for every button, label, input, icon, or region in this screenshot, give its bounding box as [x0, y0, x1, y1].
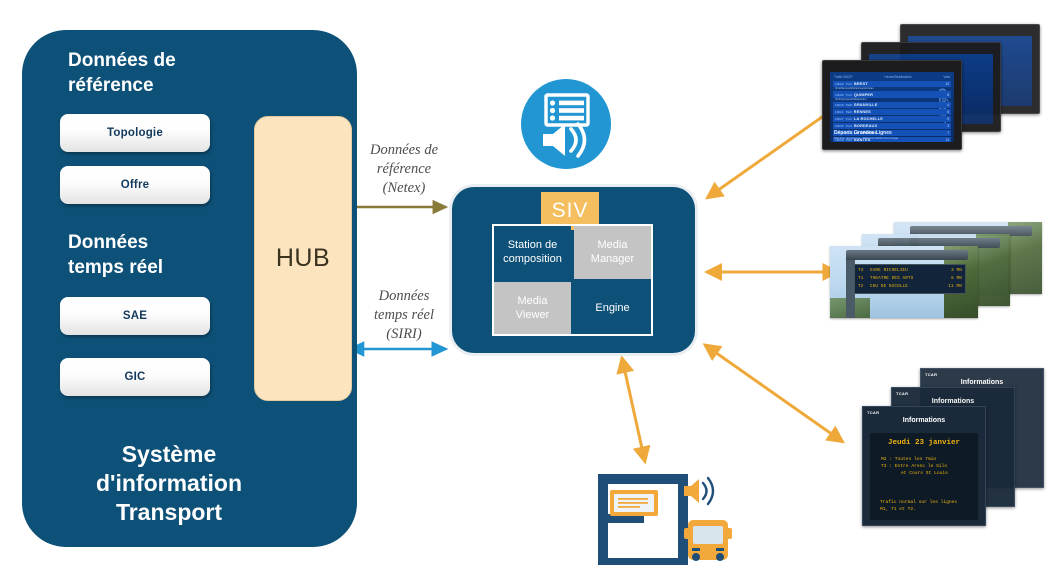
info-body: Jeudi 23 janvier M2 : Toutes les 7min T3…: [870, 433, 978, 520]
dep-type: TGV: [846, 117, 852, 121]
dep-row: 10h09 TGV QUIMPER 8: [833, 91, 951, 97]
dep-type: TGV: [846, 124, 852, 128]
info-title: Informations: [892, 398, 1014, 405]
dep-row: 10h21 TER RENNES 6: [833, 109, 951, 115]
flow-label-siri: Données temps réel (SIRI): [352, 287, 456, 344]
information-screen-stack: TCAR Informations TCAR Informations TCAR…: [862, 368, 1052, 543]
heading-reference-data: Données de référence: [68, 48, 268, 98]
dep-track: 4: [947, 103, 949, 107]
arrow-siv-to-info: [705, 345, 843, 442]
info-brand: TCAR: [867, 410, 879, 415]
dep-type: TGV: [846, 93, 852, 97]
siv-cell-engine[interactable]: Engine: [574, 282, 651, 335]
siv-tag-label: SIV: [552, 199, 589, 223]
led-line: T3: [858, 267, 870, 275]
dep-dest: QUIMPER: [854, 93, 873, 97]
dep-dest: GRANVILLE: [854, 103, 878, 107]
led-mins: 6 MN: [944, 275, 962, 283]
info-title: Informations: [863, 417, 985, 424]
display-speaker-icon: [521, 79, 611, 169]
info-screen-front: TCAR Informations Jeudi 23 janvier M2 : …: [862, 406, 986, 526]
departure-board-stack: Trafic SNCF Heure/Destination Voie dépar…: [822, 24, 1042, 149]
info-line: M2 : Toutes les 7min: [875, 456, 973, 463]
dep-time: 10h21: [835, 110, 844, 114]
dep-time: 10h27: [835, 117, 844, 121]
dep-row: 10h15 TER GRANVILLE 4: [833, 102, 951, 108]
arrow-departures-to-siv: [707, 110, 832, 198]
siv-module-grid: Station de composition Media Manager Med…: [492, 224, 653, 336]
led-dest: GARE RICHELIEU: [870, 267, 944, 275]
led-mins: 11 MN: [944, 283, 962, 291]
dep-track: 3: [947, 124, 949, 128]
chip-topologie-label: Topologie: [107, 127, 163, 139]
dep-dest: BREST: [854, 82, 868, 86]
led-row: T2 CHU DE NICOLLE 11 MN: [858, 283, 962, 291]
led-line: T1: [858, 275, 870, 283]
dep-subtext: Vitré/Rennes/Morlaix/Landerneau: [833, 87, 951, 90]
dep-type: TGV: [846, 82, 852, 86]
chip-sae-label: SAE: [123, 310, 147, 322]
dep-dest: LA ROCHELLE: [854, 117, 883, 121]
flow-label-netex: Données de référence (Netex): [352, 141, 456, 198]
chip-gic-label: GIC: [124, 371, 145, 383]
dep-time: 10h02: [835, 82, 844, 86]
led-row: T3 GARE RICHELIEU 3 MN: [858, 267, 962, 275]
dep-dest: RENNES: [854, 110, 871, 114]
chip-sae[interactable]: SAE: [60, 297, 210, 335]
led-row: T1 THEATRE DES ARTS 6 MN: [858, 275, 962, 283]
info-brand: TCAR: [925, 372, 937, 377]
outdoor-led-sign-stack: T3 GARE RICHELIEU 3 MN T1 THEATRE DES AR…: [830, 222, 1042, 317]
dep-track: 12: [945, 82, 949, 86]
info-brand: TCAR: [896, 391, 908, 396]
dep-header-left: Trafic SNCF: [834, 75, 853, 79]
led-panel: T3 GARE RICHELIEU 3 MN T1 THEATRE DES AR…: [854, 264, 966, 294]
led-line: T2: [858, 283, 870, 291]
dep-track: 6: [947, 110, 949, 114]
hub-label: HUB: [276, 244, 330, 273]
info-title: Informations: [921, 379, 1043, 386]
led-dest: THEATRE DES ARTS: [870, 275, 944, 283]
led-dest: CHU DE NICOLLE: [870, 283, 944, 291]
dep-time: 10h15: [835, 103, 844, 107]
dep-time: 10h09: [835, 93, 844, 97]
dep-header-right: Voie: [943, 75, 950, 79]
arrow-siv-to-shelter: [622, 358, 645, 462]
info-line: et Cours St Louis: [875, 470, 973, 477]
siv-cell-media-manager[interactable]: Media Manager: [574, 226, 651, 279]
led-mins: 3 MN: [944, 267, 962, 275]
dep-track: 8: [947, 93, 949, 97]
hub-box[interactable]: HUB: [254, 116, 352, 401]
panel-title: Système d'information Transport: [24, 440, 314, 527]
diagram-canvas: Données de référence Données temps réel …: [0, 0, 1056, 582]
siv-cell-station-composition[interactable]: Station de composition: [494, 226, 571, 279]
dep-time: 10h33: [835, 124, 844, 128]
dep-track: 9: [947, 117, 949, 121]
info-date: Jeudi 23 janvier: [875, 439, 973, 447]
dep-header-mid: Heure/Destination: [884, 75, 911, 79]
chip-offre[interactable]: Offre: [60, 166, 210, 204]
siv-cell-media-viewer[interactable]: Media Viewer: [494, 282, 571, 335]
dep-dest: BORDEAUX: [854, 124, 877, 128]
dep-footer: Départs Grandes Lignes Mainline departur…: [834, 130, 950, 140]
dep-subtext: Vitré/Quimperlé/Rosporden: [833, 98, 951, 101]
dep-footer-sub: Mainline departures · Bahnhof Abfahrt Fe…: [834, 136, 950, 140]
chip-offre-label: Offre: [121, 179, 149, 191]
info-footer: Trafic normal sur les lignes M1, T1 et T…: [880, 499, 972, 513]
led-sign-front: T3 GARE RICHELIEU 3 MN T1 THEATRE DES AR…: [830, 246, 978, 318]
heading-realtime-data: Données temps réel: [68, 230, 268, 280]
bus-shelter-icon: [592, 462, 732, 572]
chip-gic[interactable]: GIC: [60, 358, 210, 396]
departure-board-front: Trafic SNCF Heure/Destination Voie dépar…: [822, 60, 962, 150]
dep-row: 10h27 TGV LA ROCHELLE 9: [833, 116, 951, 122]
info-line: T3 : Entre Arenc le Silo: [875, 463, 973, 470]
dep-type: TER: [846, 103, 852, 107]
dep-row: 10h33 TGV BORDEAUX 3: [833, 123, 951, 129]
chip-topologie[interactable]: Topologie: [60, 114, 210, 152]
dep-type: TER: [846, 110, 852, 114]
